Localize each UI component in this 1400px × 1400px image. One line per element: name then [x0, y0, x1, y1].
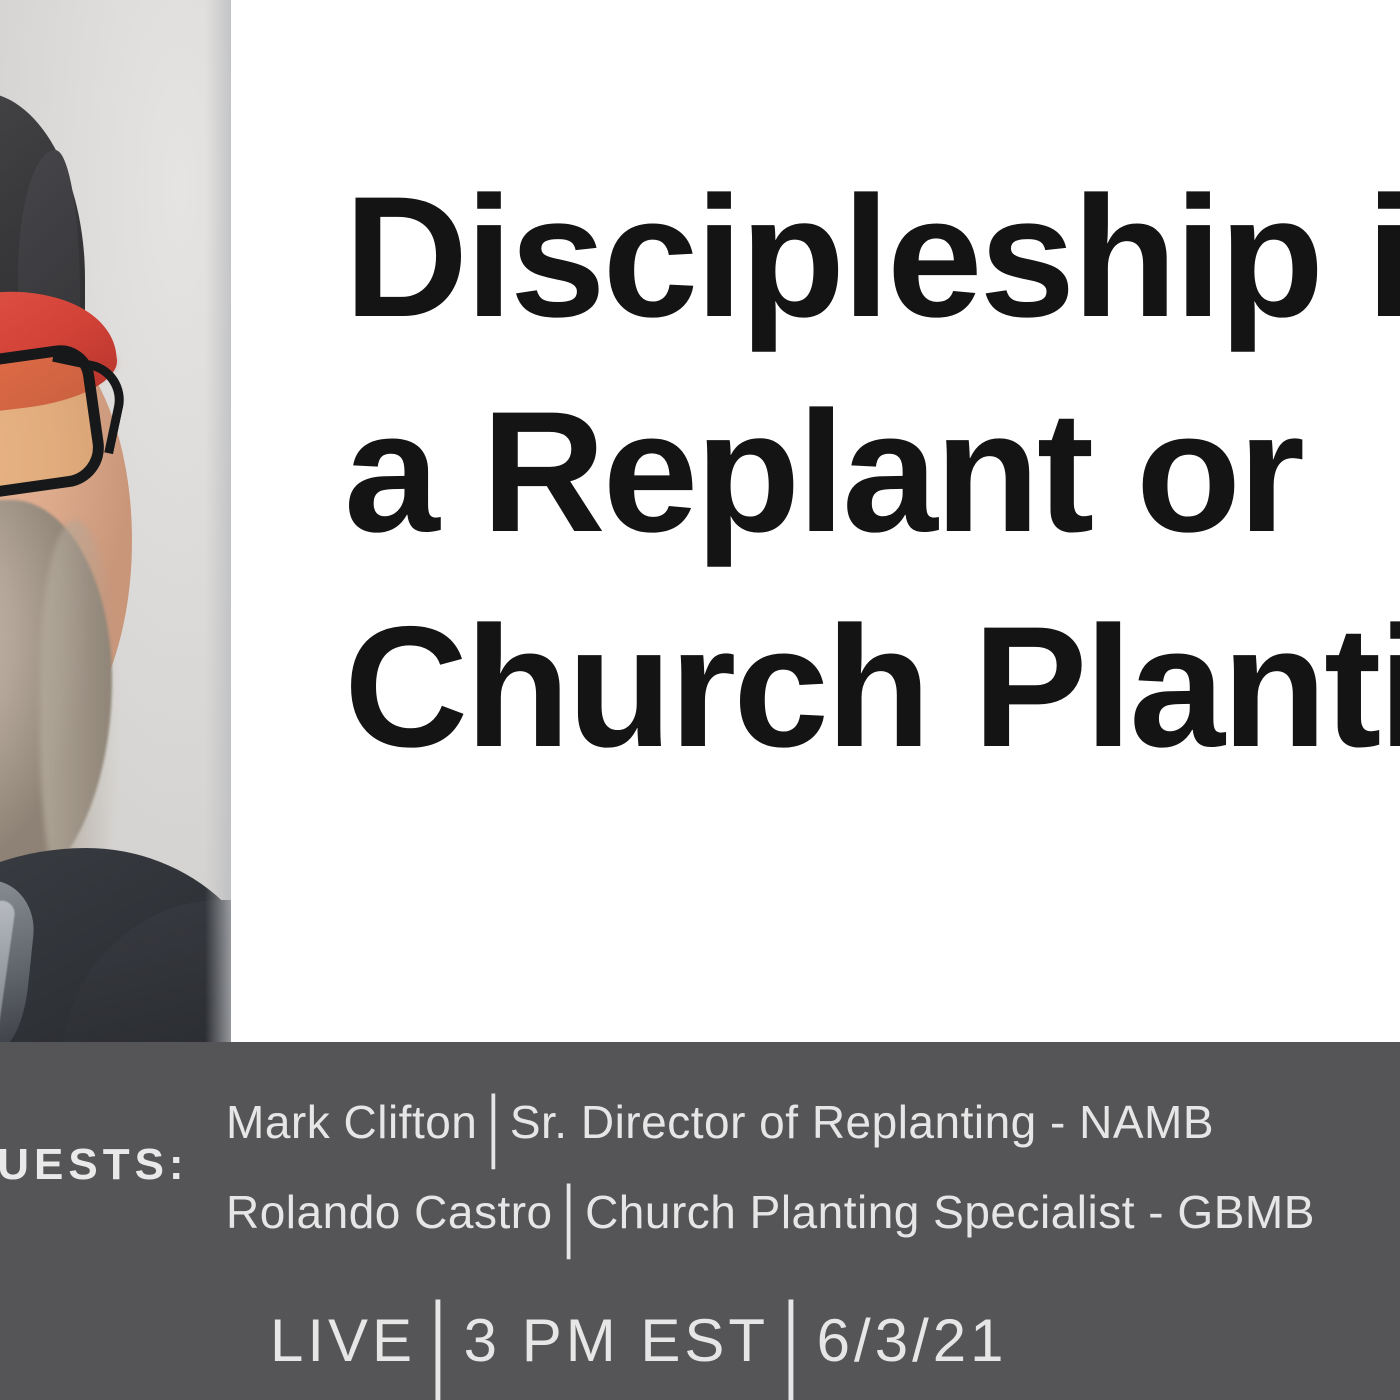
title-line-2: a Replant or: [344, 365, 1400, 580]
schedule-separator: |: [416, 1278, 464, 1400]
schedule-time: 3 PM EST: [464, 1307, 769, 1374]
schedule-date: 6/3/21: [817, 1307, 1008, 1374]
schedule-line: LIVE|3 PM EST|6/3/21: [270, 1306, 1008, 1375]
beard-edge: [40, 520, 118, 900]
title-line-3: Church Planting: [344, 580, 1400, 795]
guest-line: Mark Clifton|Sr. Director of Replanting …: [226, 1095, 1214, 1149]
guest-name: Mark Clifton: [226, 1096, 477, 1148]
guests-label: GUESTS:: [0, 1140, 189, 1190]
speaker-photo: [0, 0, 231, 1042]
photo-edge-shading: [205, 0, 231, 1042]
guest-role: Sr. Director of Replanting - NAMB: [510, 1096, 1214, 1148]
guest-role: Church Planting Specialist - GBMB: [585, 1186, 1315, 1238]
page-title: Discipleship in a Replant or Church Plan…: [344, 150, 1400, 795]
guest-name: Rolando Castro: [226, 1186, 553, 1238]
guest-separator: |: [553, 1167, 585, 1262]
live-status: LIVE: [270, 1307, 416, 1374]
title-line-1: Discipleship in: [344, 150, 1400, 365]
schedule-separator: |: [769, 1278, 817, 1400]
guest-line: Rolando Castro|Church Planting Specialis…: [226, 1185, 1315, 1239]
podcast-cover-art: Discipleship in a Replant or Church Plan…: [0, 0, 1400, 1400]
guest-separator: |: [477, 1077, 509, 1172]
